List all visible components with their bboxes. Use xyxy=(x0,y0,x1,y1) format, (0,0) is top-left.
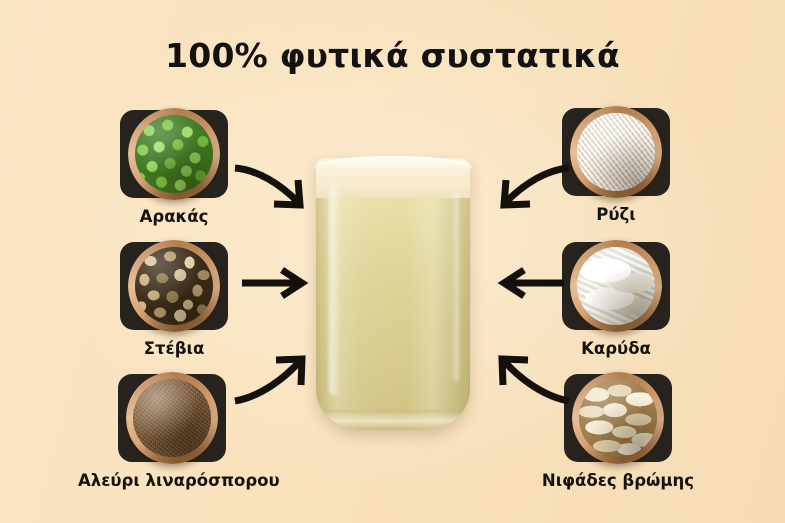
bowl-of-white-rice-icon xyxy=(570,106,662,198)
bowl-of-oat-flakes-icon xyxy=(572,372,664,464)
ingredient-stevia: Στέβια xyxy=(120,242,228,358)
page-title: 100% φυτικά συστατικά xyxy=(0,36,785,75)
bowl-of-flaxseed-flour-icon xyxy=(126,372,218,464)
flaxseed-tile xyxy=(118,374,226,462)
glass-highlight-right xyxy=(450,192,459,382)
oats-tile xyxy=(564,374,672,462)
ingredient-coconut: Καρύδα xyxy=(562,242,670,358)
coconut-tile xyxy=(562,242,670,330)
bowl-of-green-peas-icon xyxy=(128,108,220,200)
bowl-of-coconut-icon xyxy=(570,240,662,332)
arrow-straight-left-icon xyxy=(500,268,566,298)
ingredient-peas: Αρακάς xyxy=(120,110,228,226)
arrow-curved-up-right-icon xyxy=(232,355,310,407)
glass-highlight-left xyxy=(329,184,342,396)
plant-ingredients-infographic: 100% φυτικά συστατικά Αρακάς Στέβια xyxy=(0,0,785,523)
arrow-curved-down-left-icon xyxy=(496,160,572,212)
bowl-of-stevia-seeds-icon xyxy=(128,240,220,332)
glass-base xyxy=(326,410,460,430)
stevia-tile xyxy=(120,242,228,330)
ingredient-flaxseed-flour: Αλεύρι λιναρόσπορου xyxy=(118,374,226,490)
ingredient-oat-flakes: Νιφάδες βρώμης xyxy=(564,374,672,490)
rice-tile xyxy=(562,108,670,196)
ingredient-rice: Ρύζι xyxy=(562,108,670,224)
arrow-curved-down-right-icon xyxy=(232,160,308,212)
ingredient-label-oat-flakes: Νιφάδες βρώμης xyxy=(514,471,722,490)
glass-body xyxy=(316,158,470,430)
arrow-straight-right-icon xyxy=(240,268,306,298)
glass-of-plant-milk xyxy=(316,158,470,430)
peas-tile xyxy=(120,110,228,198)
arrow-curved-up-left-icon xyxy=(494,355,572,407)
ingredient-label-flaxseed-flour: Αλεύρι λιναρόσπορου xyxy=(78,471,266,490)
